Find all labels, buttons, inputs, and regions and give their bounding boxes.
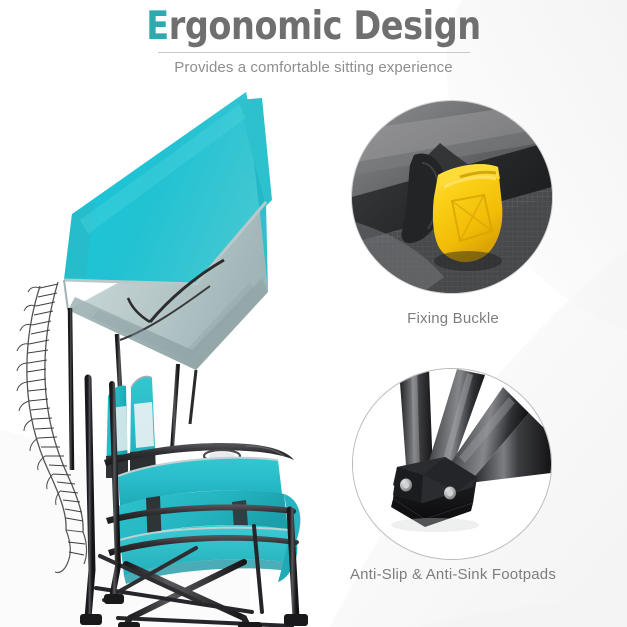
callout-label-footpads: Anti-Slip & Anti-Sink Footpads: [318, 566, 588, 583]
page-title-accent-letter: E: [146, 4, 168, 49]
chair-illustration-svg: [0, 78, 345, 627]
canopy: [64, 92, 272, 370]
callout-label-fixing-buckle: Fixing Buckle: [318, 310, 588, 327]
fixing-buckle-photo: [352, 101, 552, 293]
fixing-buckle-svg: [352, 101, 552, 293]
spine-illustration: [17, 282, 87, 573]
chair-seat-fabric: [118, 458, 300, 584]
footpad-svg: [353, 369, 551, 559]
title-divider: [158, 52, 470, 53]
page-title-rest: rgonomic Design: [169, 4, 481, 49]
product-feature-banner: Ergonomic Design Provides a comfortable …: [0, 0, 627, 627]
footpad-photo: [352, 368, 552, 560]
page-title: Ergonomic Design: [44, 6, 583, 48]
product-image: [0, 78, 345, 627]
page-subtitle: Provides a comfortable sitting experienc…: [0, 58, 627, 78]
header: Ergonomic Design Provides a comfortable …: [0, 6, 627, 78]
